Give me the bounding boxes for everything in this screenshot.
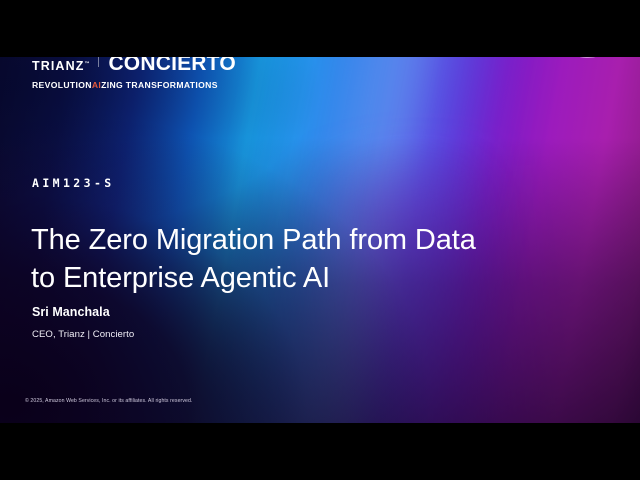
tagline-prefix: REVOLUTION: [32, 80, 92, 90]
slide-title: The Zero Migration Path from Data to Ent…: [31, 222, 501, 297]
presentation-slide: TRIANZ™ CONCIERTO REVOLUTIONAIZING TRANS…: [0, 0, 640, 480]
copyright-notice: © 2025, Amazon Web Services, Inc. or its…: [25, 398, 192, 404]
trianz-trademark-symbol: ™: [84, 61, 89, 67]
letterbox-bar-top: [0, 0, 640, 57]
session-code: AIM123-S: [32, 176, 115, 190]
tagline-ai-accent: AI: [92, 80, 101, 90]
speaker-role: CEO, Trianz | Concierto: [32, 329, 134, 340]
partner-tagline: REVOLUTIONAIZING TRANSFORMATIONS: [32, 81, 236, 90]
tagline-suffix: ZING TRANSFORMATIONS: [101, 80, 218, 90]
speaker-name: Sri Manchala: [32, 305, 110, 319]
slide-content: TRIANZ™ CONCIERTO REVOLUTIONAIZING TRANS…: [0, 0, 640, 480]
trianz-wordmark: TRIANZ™: [32, 60, 89, 73]
letterbox-bar-bottom: [0, 423, 640, 480]
